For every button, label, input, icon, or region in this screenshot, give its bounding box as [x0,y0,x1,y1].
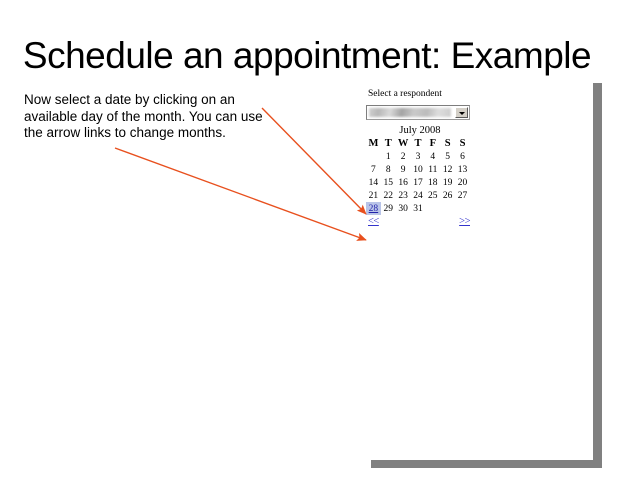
calendar-day-cell[interactable]: 6 [455,150,470,163]
calendar-table: M T W T F S S 12345678910111213141516171… [366,137,470,215]
calendar-day-cell[interactable]: 22 [381,189,396,202]
calendar-day-cell[interactable]: 4 [425,150,440,163]
slide-shadow-bottom [371,460,602,468]
calendar-day-cell[interactable]: 27 [455,189,470,202]
calendar-week-row: 78910111213 [366,163,470,176]
calendar-day-cell[interactable]: 18 [425,176,440,189]
instruction-text: Now select a date by clicking on an avai… [24,92,272,142]
respondent-select[interactable] [366,105,470,120]
calendar-day-cell[interactable]: 29 [381,202,396,215]
calendar-weekday-header: S [440,137,455,150]
respondent-select-value [369,108,451,117]
calendar-body: 1234567891011121314151617181920212223242… [366,150,470,215]
calendar-day-label: 27 [458,191,468,201]
calendar-day-cell[interactable]: 25 [425,189,440,202]
calendar-day-label: 21 [369,191,379,201]
calendar-weekday-row: M T W T F S S [366,137,470,150]
calendar-day-label: 15 [384,178,394,188]
calendar-weekday-header: T [381,137,396,150]
calendar-week-row: 21222324252627 [366,189,470,202]
calendar-day-cell-selected[interactable]: 28 [366,202,381,215]
calendar-day-cell[interactable]: 9 [396,163,411,176]
calendar-weekday-header: F [425,137,440,150]
calendar-day-cell[interactable]: 8 [381,163,396,176]
calendar-day-cell[interactable]: 15 [381,176,396,189]
calendar-empty-cell [440,202,455,215]
calendar-day-label: 11 [428,165,437,175]
calendar-day-label: 9 [401,165,406,175]
calendar-day-label: 5 [445,152,450,162]
calendar-week-row: 28293031 [366,202,470,215]
calendar-day-cell[interactable]: 13 [455,163,470,176]
calendar-day-label: 23 [398,191,408,201]
calendar-day-label: 3 [416,152,421,162]
calendar-day-label: 18 [428,178,438,188]
next-month-link[interactable]: >> [459,216,470,227]
calendar-weekday-header: S [455,137,470,150]
calendar-day-label: 7 [371,165,376,175]
calendar-day-label: 1 [386,152,391,162]
calendar-day-cell[interactable]: 11 [425,163,440,176]
calendar-day-cell[interactable]: 23 [396,189,411,202]
calendar-day-cell[interactable]: 17 [411,176,426,189]
calendar-month-title: July 2008 [366,124,478,137]
calendar-day-cell[interactable]: 7 [366,163,381,176]
calendar-day-label: 14 [369,178,379,188]
calendar-day-label: 25 [428,191,438,201]
calendar-nav: << >> [366,216,470,230]
calendar-day-label: 31 [413,204,423,214]
calendar-empty-cell [366,150,381,163]
calendar-day-label: 24 [413,191,423,201]
calendar-day-cell[interactable]: 31 [411,202,426,215]
calendar-day-label: 28 [369,204,379,214]
calendar-week-row: 123456 [366,150,470,163]
calendar-day-label: 17 [413,178,423,188]
calendar-day-label: 10 [413,165,423,175]
calendar-day-cell[interactable]: 24 [411,189,426,202]
calendar-day-label: 20 [458,178,468,188]
calendar-day-label: 26 [443,191,453,201]
calendar-day-label: 4 [430,152,435,162]
calendar-day-cell[interactable]: 14 [366,176,381,189]
calendar-day-label: 12 [443,165,453,175]
calendar-week-row: 14151617181920 [366,176,470,189]
calendar-day-label: 2 [401,152,406,162]
respondent-label: Select a respondent [368,88,478,100]
calendar-day-cell[interactable]: 3 [411,150,426,163]
calendar-day-label: 22 [384,191,394,201]
arrow-to-month-nav-links [115,148,366,240]
calendar-day-cell[interactable]: 1 [381,150,396,163]
prev-month-link[interactable]: << [368,216,379,227]
calendar-day-label: 13 [458,165,468,175]
calendar-weekday-header: M [366,137,381,150]
calendar-empty-cell [455,202,470,215]
calendar-empty-cell [425,202,440,215]
arrow-to-selected-day [262,108,366,214]
calendar-day-label: 6 [460,152,465,162]
calendar-day-label: 16 [398,178,408,188]
calendar-day-label: 29 [384,204,394,214]
calendar-day-label: 8 [386,165,391,175]
calendar-day-cell[interactable]: 21 [366,189,381,202]
calendar-day-cell[interactable]: 5 [440,150,455,163]
calendar-day-label: 19 [443,178,453,188]
calendar-day-cell[interactable]: 20 [455,176,470,189]
chevron-down-icon[interactable] [455,107,468,118]
page-title: Schedule an appointment: Example [0,34,614,78]
calendar-day-cell[interactable]: 10 [411,163,426,176]
slide-shadow-right [593,83,602,462]
calendar-weekday-header: T [411,137,426,150]
calendar-day-cell[interactable]: 19 [440,176,455,189]
calendar-day-cell[interactable]: 12 [440,163,455,176]
calendar-weekday-header: W [396,137,411,150]
calendar-day-cell[interactable]: 26 [440,189,455,202]
calendar-day-cell[interactable]: 2 [396,150,411,163]
calendar-day-label: 30 [398,204,408,214]
calendar-widget: Select a respondent July 2008 M T W T F … [366,88,478,230]
calendar-day-cell[interactable]: 16 [396,176,411,189]
calendar-day-cell[interactable]: 30 [396,202,411,215]
